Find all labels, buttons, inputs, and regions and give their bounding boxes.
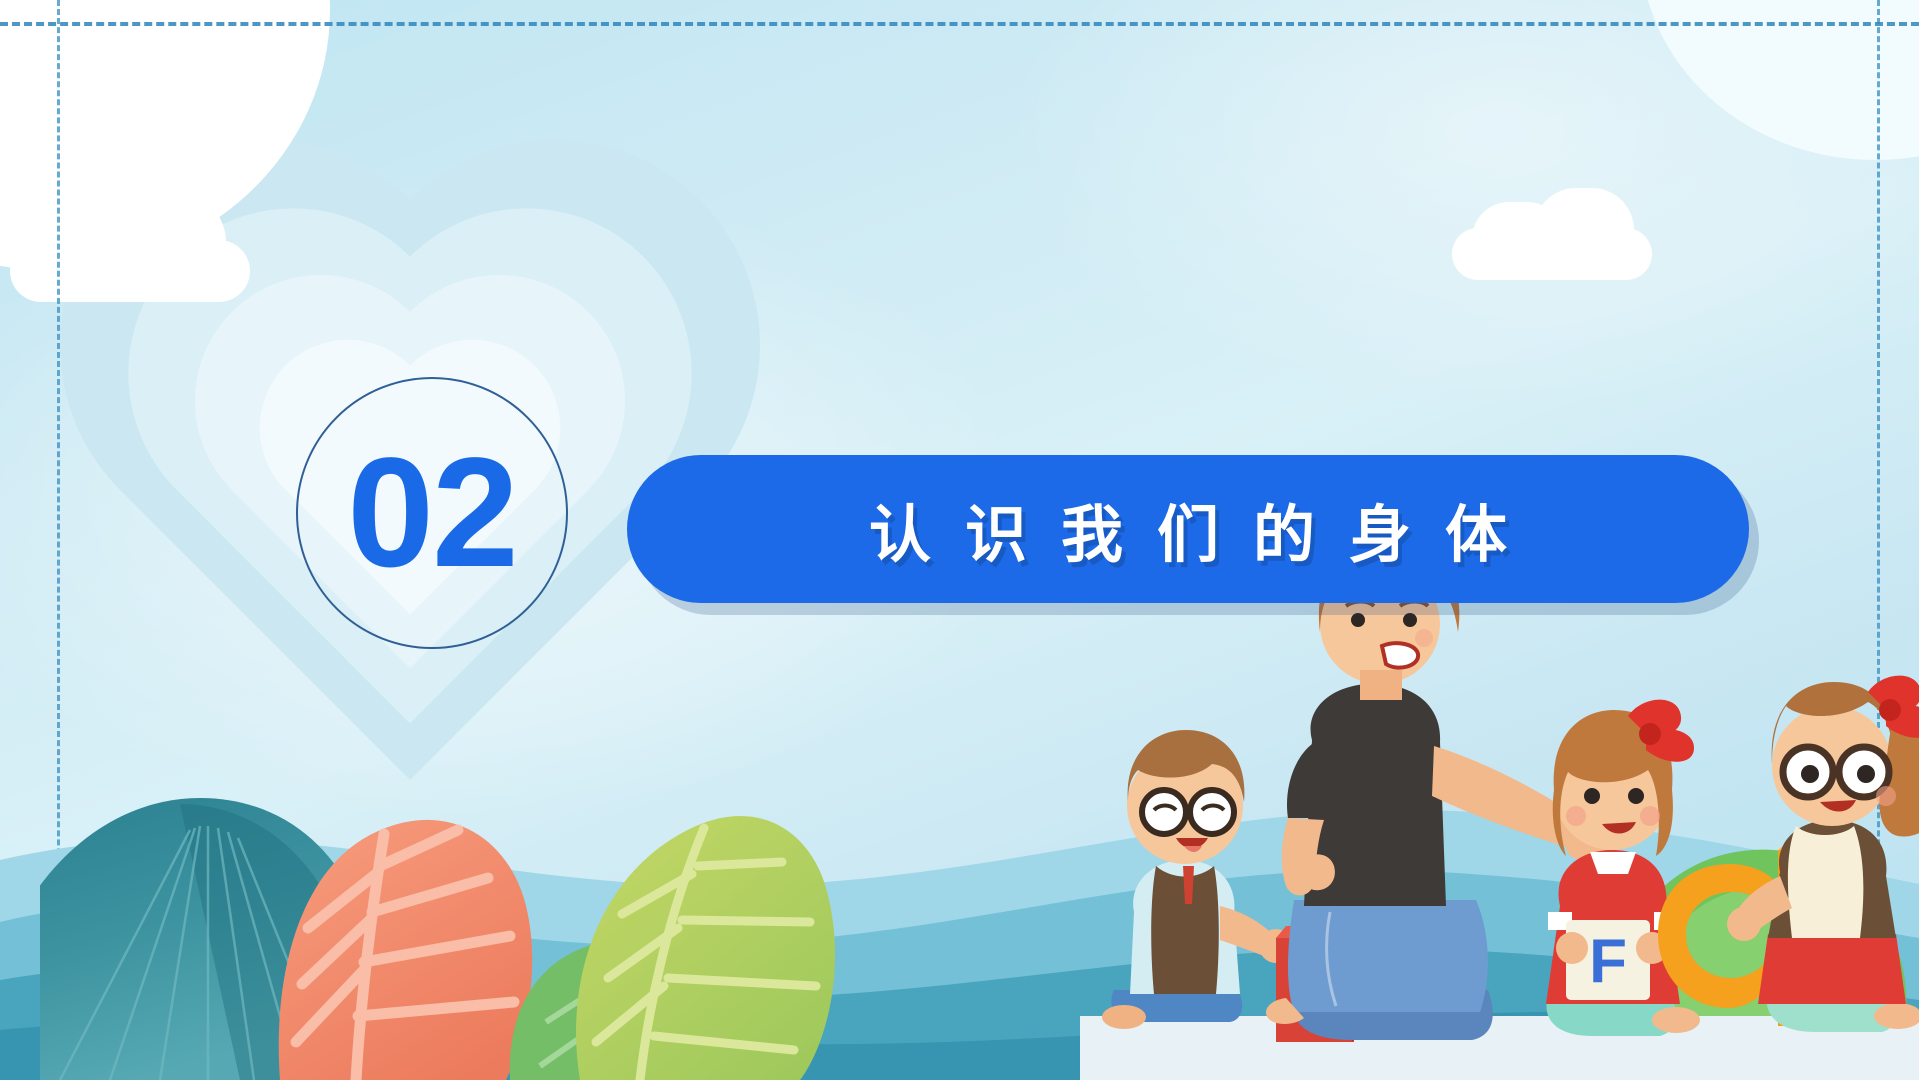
teacher-and-children-illustration: F (1080, 520, 1919, 1080)
girl2-top-cream (1788, 826, 1863, 938)
girl1-collar (1590, 852, 1636, 874)
teacher-eye-left (1351, 613, 1365, 627)
section-title-banner: 认识我们的身体 (627, 455, 1749, 603)
dashed-border-top (0, 22, 1919, 26)
girl2-skirt (1758, 934, 1906, 1004)
letter-block-F: F (1589, 927, 1627, 996)
teacher-neck (1360, 670, 1402, 700)
girl1-hand-left (1556, 932, 1588, 964)
girl1-foot (1652, 1007, 1700, 1033)
girl1-eye-left (1584, 788, 1600, 804)
section-title-text: 认识我们的身体 (835, 484, 1541, 574)
cloud-right-small (1452, 188, 1652, 280)
teacher-eye-right (1403, 613, 1417, 627)
teacher-sleeve-left (1287, 744, 1324, 818)
boy-with-glasses (1102, 730, 1293, 1029)
girl1-eye-right (1628, 788, 1644, 804)
girl2-cheek (1876, 786, 1896, 806)
plant-decorations (40, 770, 1040, 1080)
girl2-hand-left (1727, 907, 1761, 941)
green-leaf-large (576, 816, 835, 1080)
section-number: 02 (296, 377, 568, 649)
teacher-jeans (1288, 900, 1488, 1012)
teacher-mouth (1382, 643, 1418, 667)
girl1-cheek-right (1640, 806, 1660, 826)
boy-foot (1102, 1005, 1146, 1029)
girl1-cheek-left (1566, 806, 1586, 826)
slide-canvas: F (0, 0, 1919, 1080)
teacher-cheek (1415, 629, 1433, 647)
girl2-eye-left (1801, 765, 1819, 783)
girl2-eye-right (1857, 765, 1875, 783)
teacher-hand-left (1301, 854, 1335, 890)
cloud-left-small (10, 192, 250, 302)
